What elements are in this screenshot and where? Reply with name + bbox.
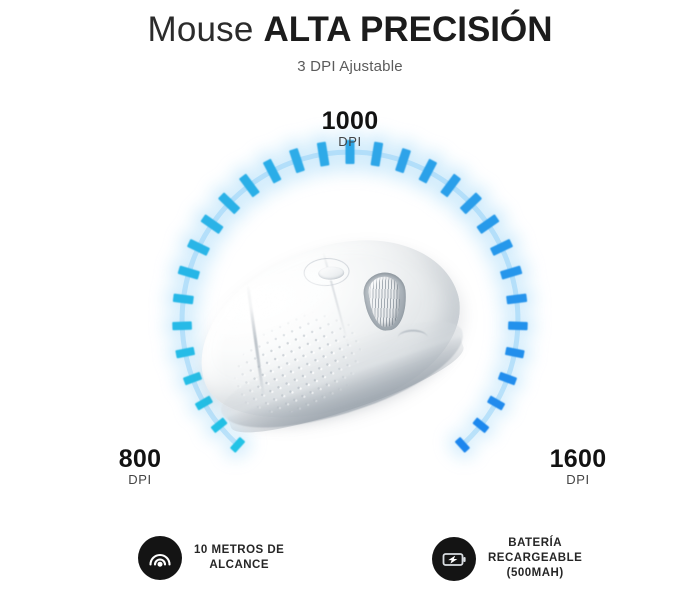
page-title-strong: ALTA PRECISIÓN bbox=[263, 10, 552, 49]
dpi-unit: DPI bbox=[280, 134, 420, 150]
feature-battery: BATERÍA RECARGEABLE (500MAH) bbox=[432, 536, 582, 581]
feature-list: 10 METROS DE ALCANCE BATERÍA RECARGEABLE… bbox=[0, 534, 700, 600]
dpi-value: 800 bbox=[75, 446, 205, 472]
page-title-light: Mouse bbox=[147, 10, 263, 49]
product-infographic: Mouse ALTA PRECISIÓN 3 DPI Ajustable 100… bbox=[0, 0, 700, 600]
dpi-label-1000: 1000 DPI bbox=[280, 108, 420, 150]
dpi-value: 1000 bbox=[280, 108, 420, 134]
feature-range-line-1: 10 METROS DE bbox=[194, 543, 284, 558]
page-title: Mouse ALTA PRECISIÓN bbox=[0, 0, 700, 52]
dpi-unit: DPI bbox=[508, 472, 648, 488]
dpi-value: 1600 bbox=[508, 446, 648, 472]
feature-battery-label: BATERÍA RECARGEABLE (500MAH) bbox=[488, 536, 582, 581]
page-subtitle: 3 DPI Ajustable bbox=[0, 52, 700, 75]
dpi-label-800: 800 DPI bbox=[75, 446, 205, 488]
signal-waves-icon bbox=[138, 536, 182, 580]
feature-range: 10 METROS DE ALCANCE bbox=[138, 536, 284, 580]
feature-range-label: 10 METROS DE ALCANCE bbox=[194, 543, 284, 573]
product-image bbox=[196, 248, 496, 453]
feature-battery-line-3: (500MAH) bbox=[488, 566, 582, 581]
feature-range-line-2: ALCANCE bbox=[194, 558, 284, 573]
feature-battery-line-2: RECARGEABLE bbox=[488, 551, 582, 566]
dial-tick bbox=[508, 321, 528, 330]
dpi-unit: DPI bbox=[75, 472, 205, 488]
feature-battery-line-1: BATERÍA bbox=[488, 536, 582, 551]
battery-charging-icon bbox=[432, 537, 476, 581]
header: Mouse ALTA PRECISIÓN 3 DPI Ajustable bbox=[0, 0, 700, 75]
dpi-label-1600: 1600 DPI bbox=[508, 446, 648, 488]
